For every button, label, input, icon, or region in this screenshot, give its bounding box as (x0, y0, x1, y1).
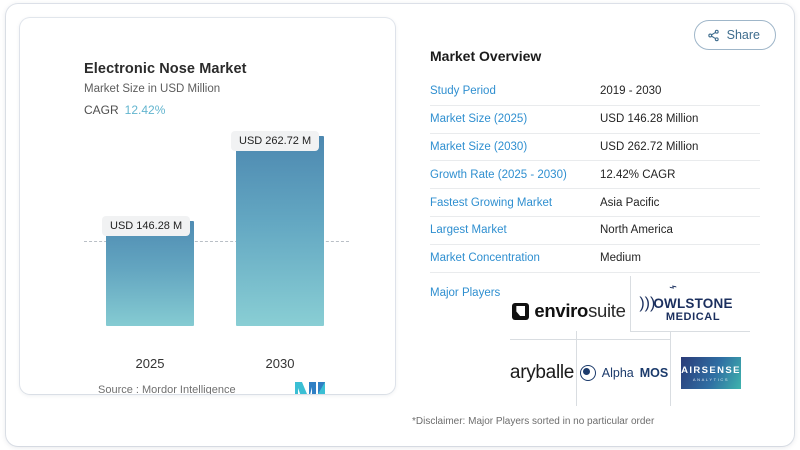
alpha-mos-name-bold: MOS (640, 366, 668, 380)
player-logo-owlstone-medical: ))) ⌁ OWLSTONE MEDICAL (638, 288, 748, 332)
player-logo-airsense-analytics: AIRSENSE ANALYTICS (672, 348, 750, 398)
bar-2025[interactable] (106, 221, 194, 326)
airsense-name-top: AIRSENSE (681, 365, 741, 376)
row-label-study-period: Study Period (430, 85, 600, 97)
bar-2030[interactable] (236, 136, 324, 326)
mordor-intelligence-logo (294, 380, 328, 394)
row-label-largest-market: Largest Market (430, 224, 600, 236)
table-row: Largest Market North America (430, 217, 760, 245)
bar-chart-plot-area (20, 123, 395, 353)
chart-source: Source : Mordor Intelligence (98, 384, 236, 394)
row-label-market-size-2025: Market Size (2025) (430, 113, 600, 125)
chart-subtitle: Market Size in USD Million (84, 83, 220, 95)
grid-line (510, 339, 670, 340)
row-value-market-size-2030: USD 262.72 Million (600, 141, 698, 153)
table-row: Growth Rate (2025 - 2030) 12.42% CAGR (430, 161, 760, 189)
row-value-fastest-growing-market: Asia Pacific (600, 197, 659, 209)
chart-title: Electronic Nose Market (84, 61, 247, 77)
share-button[interactable]: Share (694, 20, 776, 50)
owlstone-bird-icon: ⌁ (667, 279, 679, 294)
bar-label-2030: USD 262.72 M (231, 131, 319, 151)
share-icon (707, 29, 720, 42)
row-value-market-size-2025: USD 146.28 Million (600, 113, 698, 125)
x-axis-tick-2030: 2030 (236, 356, 324, 371)
row-value-largest-market: North America (600, 224, 673, 236)
table-row: Fastest Growing Market Asia Pacific (430, 189, 760, 217)
row-label-market-size-2030: Market Size (2030) (430, 141, 600, 153)
chart-cagr-value: 12.42% (125, 103, 166, 117)
player-logo-aryballe: aryballe (506, 348, 578, 398)
page-card: Share Electronic Nose Market Market Size… (6, 4, 794, 446)
owlstone-swoosh-icon: ))) (639, 296, 655, 312)
owlstone-name-top: OWLSTONE (653, 297, 732, 311)
row-label-fastest-growing-market: Fastest Growing Market (430, 197, 600, 209)
alpha-mos-ring-icon (580, 365, 596, 381)
bar-label-2025: USD 146.28 M (102, 216, 190, 236)
table-row: Market Size (2030) USD 262.72 Million (430, 134, 760, 162)
table-row: Market Size (2025) USD 146.28 Million (430, 106, 760, 134)
row-label-growth-rate: Growth Rate (2025 - 2030) (430, 169, 600, 181)
x-axis-tick-2025: 2025 (106, 356, 194, 371)
chart-cagr: CAGR12.42% (84, 103, 165, 117)
row-value-growth-rate: 12.42% CAGR (600, 169, 675, 181)
share-button-label: Share (727, 28, 760, 42)
aryballe-name: aryballe (510, 362, 574, 384)
owlstone-name-bottom: MEDICAL (653, 312, 732, 323)
grid-line (670, 331, 671, 406)
alpha-mos-name-light: Alpha (602, 366, 634, 380)
row-label-market-concentration: Market Concentration (430, 252, 600, 264)
disclaimer-text: *Disclaimer: Major Players sorted in no … (412, 416, 654, 427)
table-row: Market Concentration Medium (430, 245, 760, 273)
airsense-name-bottom: ANALYTICS (693, 377, 729, 382)
envirosuite-mark-icon (512, 303, 529, 320)
row-value-study-period: 2019 - 2030 (600, 85, 661, 97)
chart-cagr-label: CAGR (84, 103, 119, 117)
player-logo-alpha-mos: Alpha MOS (578, 348, 670, 398)
market-overview-panel: Market Overview Study Period 2019 - 2030… (430, 48, 760, 299)
envirosuite-name-light: suite (588, 300, 626, 321)
table-row: Study Period 2019 - 2030 (430, 78, 760, 106)
grid-line (630, 276, 631, 332)
major-players-logo-grid: envirosuite ))) ⌁ OWLSTONE MEDICAL aryba… (510, 276, 750, 406)
player-logo-envirosuite: envirosuite (508, 290, 630, 332)
envirosuite-name-bold: enviro (534, 300, 588, 321)
row-value-market-concentration: Medium (600, 252, 641, 264)
market-overview-title: Market Overview (430, 48, 760, 64)
chart-card: Electronic Nose Market Market Size in US… (20, 18, 395, 394)
